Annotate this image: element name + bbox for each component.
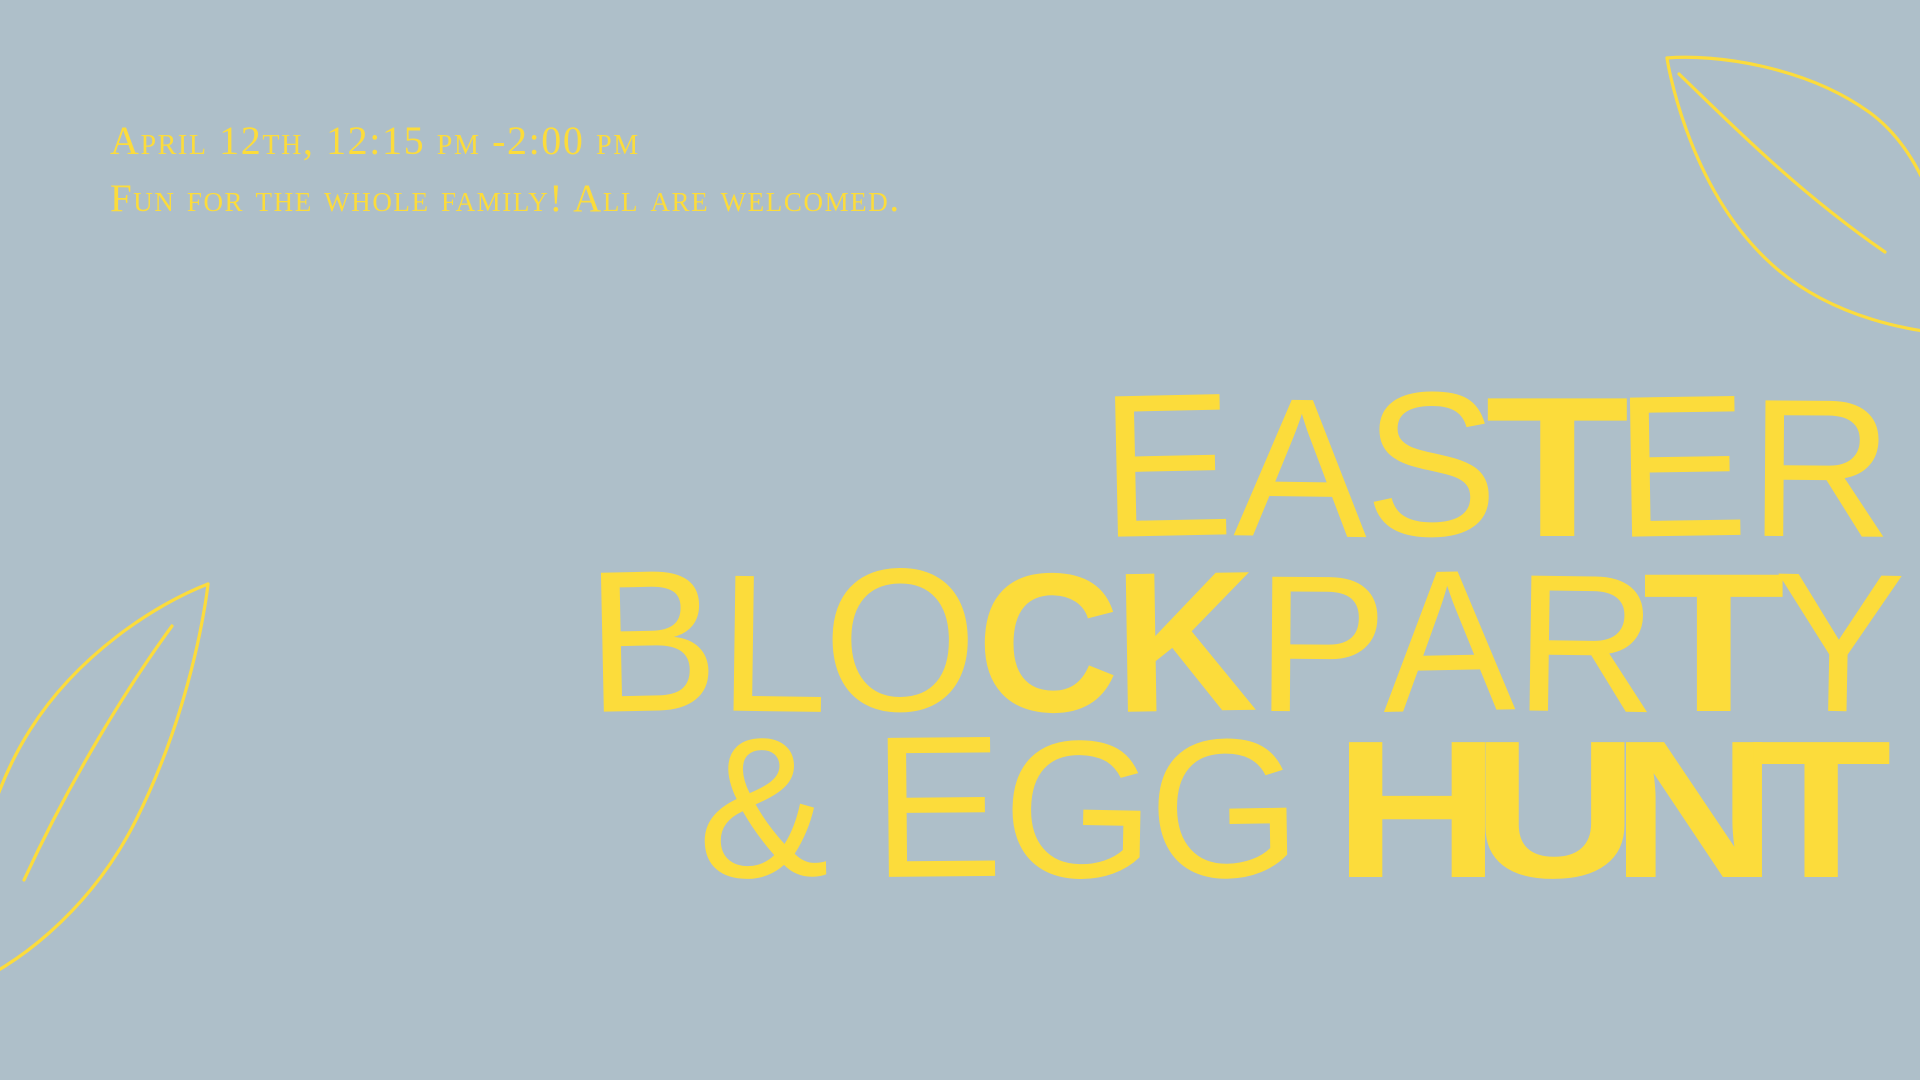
- headline-letter: N: [1610, 724, 1773, 896]
- easter-poster: April 12th, 12:15 pm -2:00 pm Fun for th…: [0, 0, 1920, 1080]
- event-audience-note: Fun for the whole family! All are welcom…: [110, 170, 901, 228]
- headline-letter: T: [1751, 724, 1889, 896]
- headline-letter: G: [1001, 723, 1154, 898]
- headline-letter: A: [1233, 381, 1367, 557]
- headline-letter: R: [1748, 382, 1892, 556]
- headline-letter: G: [1147, 721, 1299, 898]
- headline-letter: E: [1613, 377, 1747, 557]
- event-details: April 12th, 12:15 pm -2:00 pm Fun for th…: [110, 112, 901, 228]
- headline-letter: &: [696, 719, 827, 898]
- headline-line-egg-hunt: &EGGHUNT: [0, 724, 1920, 896]
- event-date-time: April 12th, 12:15 pm -2:00 pm: [110, 112, 901, 170]
- headline-letter: E: [871, 719, 1000, 898]
- headline-block: EASTER BLOCKPARTY &EGGHUNT: [0, 380, 1920, 897]
- leaf-top-right-icon: [1655, 40, 1920, 340]
